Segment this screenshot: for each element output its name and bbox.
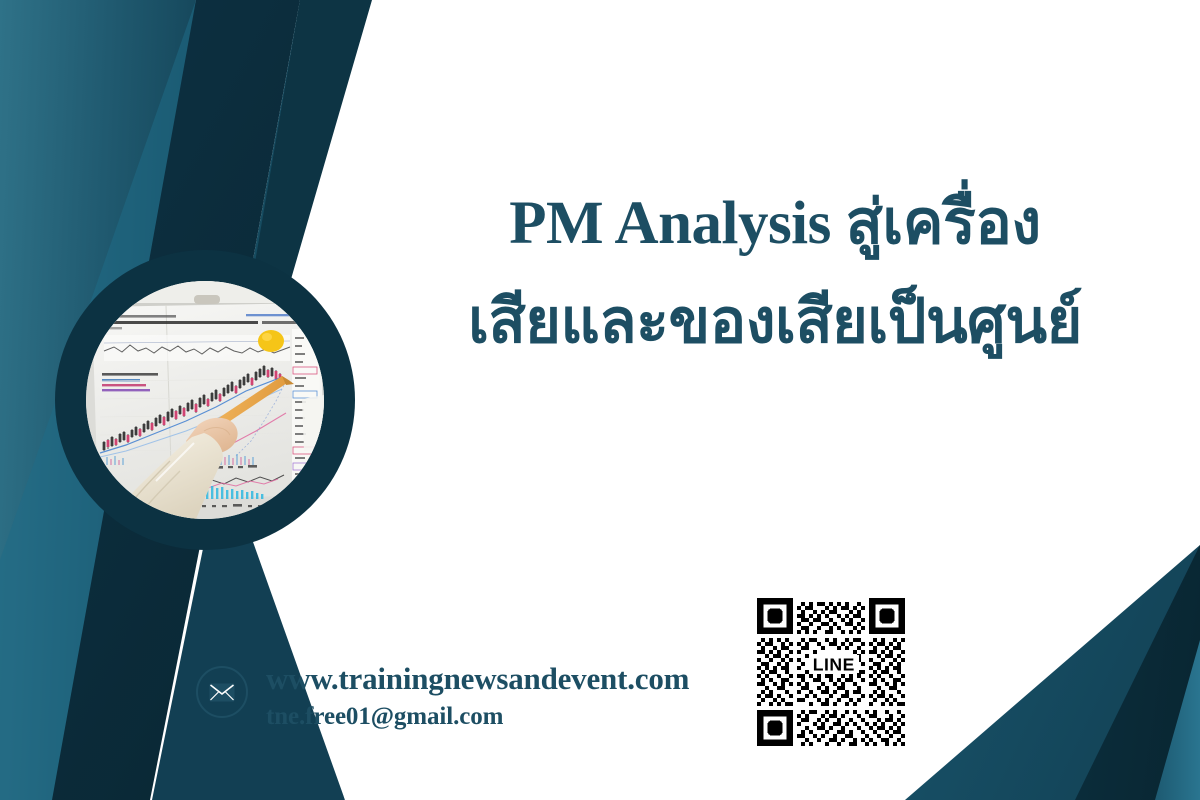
line-qr-code[interactable]: LINE — [757, 598, 905, 746]
sticker — [258, 330, 284, 352]
email-link[interactable]: tne.free01@gmail.com — [266, 698, 689, 736]
title-line-1: PM Analysis สู่เครื่อง — [380, 175, 1170, 274]
website-link[interactable]: www.trainingnewsandevent.com — [266, 660, 689, 698]
photo-chart-image — [86, 281, 324, 519]
shape-right-light-edge — [1155, 640, 1200, 800]
contact-block: www.trainingnewsandevent.com tne.free01@… — [196, 660, 689, 735]
photo-ring — [55, 250, 355, 550]
contact-text: www.trainingnewsandevent.com tne.free01@… — [266, 660, 689, 735]
envelope-icon — [196, 666, 248, 718]
title-line-2: เสียและของเสียเป็นศูนย์ — [380, 274, 1170, 373]
page-title: PM Analysis สู่เครื่อง เสียและของเสียเป็… — [380, 175, 1170, 373]
shape-right-dark-band — [1075, 545, 1200, 800]
shape-right-mid-band — [905, 545, 1200, 800]
poster-canvas: PM Analysis สู่เครื่อง เสียและของเสียเป็… — [0, 0, 1200, 800]
qr-line-label: LINE — [813, 654, 855, 674]
